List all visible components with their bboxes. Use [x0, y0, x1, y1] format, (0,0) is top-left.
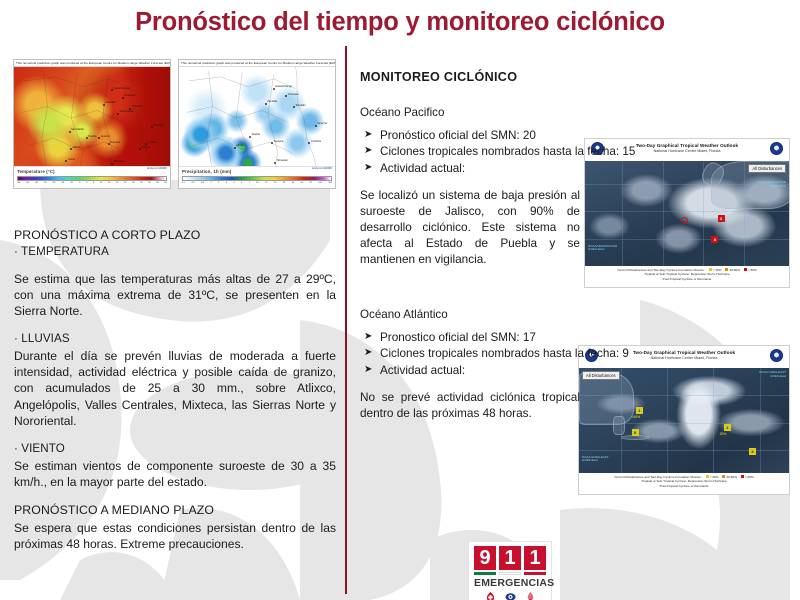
- arrow-bullet-icon: ➤: [364, 330, 380, 345]
- flag-bar-red: [524, 572, 546, 575]
- bullet-item: ➤Pronóstico oficial del SMN: 20: [364, 128, 790, 143]
- map-city-label: Teziutlán: [295, 105, 305, 108]
- bullet-item: ➤Actividad actual:: [364, 363, 790, 378]
- map-city-label: Tepeaca: [110, 142, 120, 145]
- legend-tick: 100: [318, 182, 322, 184]
- bullet-text: Pronóstico oficial del SMN: 20: [380, 128, 790, 143]
- hazard-marker: X: [749, 448, 756, 455]
- bullet-item: ➤Ciclones tropicales nombrados hasta la …: [364, 346, 790, 361]
- legend-tick: -10: [70, 182, 73, 184]
- digit-box: 1: [499, 546, 521, 570]
- legend-tick: -30: [35, 182, 38, 184]
- flag-bar-white: [499, 572, 521, 575]
- precipitation-color-bar: [182, 176, 332, 181]
- legend-tick: 15: [265, 182, 267, 184]
- legend-tick: 70: [309, 182, 311, 184]
- legend-tick: 30: [132, 182, 134, 184]
- bullet-item: ➤Pronostico oficial del SMN: 17: [364, 330, 790, 345]
- legend-tick: 20: [116, 182, 118, 184]
- map-city-label: Teziutlán: [132, 106, 142, 109]
- arrow-bullet-icon: ➤: [364, 128, 380, 143]
- legend-gt60: > 60%: [745, 475, 754, 479]
- legend-tick: -40: [17, 182, 20, 184]
- precipitation-legend-ticks: 0.10.30.512345710152030405070100150: [182, 182, 332, 184]
- precipitation-legend: Precipitation, 1h (mm) windy.com ECMWF 0…: [179, 166, 335, 188]
- map-city-label: Zacapoaxtla: [119, 111, 133, 114]
- legend-tick: 45: [156, 182, 158, 184]
- legend-tick: 1: [210, 182, 211, 184]
- pacific-bullet-list: ➤Pronóstico oficial del SMN: 20➤Ciclones…: [364, 128, 790, 176]
- bullet-item: ➤Ciclones tropicales nombrados hasta la …: [364, 144, 790, 159]
- legend-tick: 2: [218, 182, 219, 184]
- map-city-label: San Martín: [71, 129, 84, 132]
- legend-tick: 40: [148, 182, 150, 184]
- temperature-color-bar: [17, 176, 167, 181]
- legend-tick: 5: [93, 182, 94, 184]
- legend-tick: -25: [43, 182, 46, 184]
- legend-tick: 7: [249, 182, 250, 184]
- short-term-heading: PRONÓSTICO A CORTO PLAZO: [14, 228, 336, 244]
- legend-tick: 5: [241, 182, 242, 184]
- cuba-landmass: [621, 435, 650, 440]
- cyclone-section-title: MONITOREO CICLÓNICO: [360, 70, 790, 84]
- map-city-label: Izúcar: [68, 159, 75, 162]
- map-city-label: Zacatlán: [105, 102, 115, 105]
- arrow-bullet-icon: ➤: [364, 161, 380, 176]
- precipitation-legend-credit: windy.com ECMWF: [312, 168, 332, 171]
- rain-paragraph: Durante el día se prevén lluvias de mode…: [14, 348, 336, 429]
- map-city-label: Córdoba: [311, 141, 321, 144]
- legend-tick: -5: [79, 182, 81, 184]
- map-city-label: Puebla: [252, 134, 260, 137]
- legend-tick: 10: [100, 182, 102, 184]
- bullet-item: ➤Actividad actual:: [364, 161, 790, 176]
- bullet-text: Actividad actual:: [380, 363, 790, 378]
- legend-tick: 50: [301, 182, 303, 184]
- map-city-label: Veracruz: [154, 125, 164, 128]
- flag-bar-green: [474, 572, 496, 575]
- atlantic-ocean-label: Océano Atlántico: [360, 308, 790, 321]
- wind-paragraph: Se estiman vientos de componente suroest…: [14, 458, 336, 490]
- pacific-ocean-label: Océano Pacifico: [360, 106, 790, 119]
- emergency-911-logo: 911 EMERGENCIAS: [468, 541, 552, 600]
- legend-tick: 35: [140, 182, 142, 184]
- temperature-legend: Temperature (°C) windy.com ECMWF -40-35-…: [14, 166, 170, 188]
- bullet-text: Pronostico oficial del SMN: 17: [380, 330, 790, 345]
- digit-box: 1: [524, 546, 546, 570]
- nhc-legend-chance-label: Current Disturbances and Two-Day Cyclone…: [614, 475, 701, 479]
- legend-tick: 0.1: [182, 182, 185, 184]
- forecast-text-column: PRONÓSTICO A CORTO PLAZO · TEMPERATURA S…: [14, 228, 336, 552]
- arrow-bullet-icon: ➤: [364, 144, 380, 159]
- legend-tick: 150: [328, 182, 332, 184]
- column-divider: [345, 46, 347, 594]
- map-city-label: Puebla: [88, 136, 96, 139]
- map-city-label: Córdoba: [148, 142, 158, 145]
- temperature-map[interactable]: This numerical prediction graph was prod…: [13, 59, 171, 189]
- legend-tick: -15: [61, 182, 64, 184]
- legend-swatch-red: [741, 475, 744, 478]
- map-city-label: Tepeaca: [274, 141, 284, 144]
- map-city-label: Zacatlán: [267, 101, 277, 104]
- legend-tick: -20: [52, 182, 55, 184]
- nhc-legend-line-3: Post-Tropical Cyclone or Remnants: [579, 484, 789, 489]
- legend-tick: 40: [292, 182, 294, 184]
- hazard-marker: X: [632, 429, 639, 436]
- temperature-map-header: This numerical prediction graph was prod…: [14, 60, 170, 67]
- map-city-label: Huauchinango: [275, 86, 292, 89]
- digit-box: 9: [474, 546, 496, 570]
- map-city-label: Tehuacán: [277, 160, 288, 163]
- precipitation-map-header: This numerical prediction graph was prod…: [179, 60, 335, 67]
- legend-tick: 4: [233, 182, 234, 184]
- legend-tick: 30: [283, 182, 285, 184]
- map-city-label: Amozoc: [101, 136, 110, 139]
- fire-hydrant-icon: [525, 591, 536, 600]
- pacific-activity-paragraph: Se localizó un sistema de baja presión a…: [360, 188, 580, 268]
- police-shield-icon: [505, 591, 516, 600]
- legend-tick: 15: [108, 182, 110, 184]
- red-cross-icon: [485, 591, 496, 600]
- legend-lt40: < 40%: [710, 475, 719, 479]
- legend-tick: 20: [274, 182, 276, 184]
- nhc-atlantic-stamp: NOAA GOES-EAST GOES-East: [582, 456, 609, 464]
- legend-swatch-orange: [722, 475, 725, 478]
- map-city-label: Xicotepec: [288, 94, 299, 97]
- formation-chance-label: 20%: [720, 432, 727, 436]
- legend-tick: -35: [26, 182, 29, 184]
- legend-tick: 25: [124, 182, 126, 184]
- legend-mid: 40-60%: [726, 475, 737, 479]
- map-city-label: Orizaba: [141, 147, 150, 150]
- rain-label: · LLUVIAS: [14, 332, 336, 347]
- emergencias-label: EMERGENCIAS: [474, 577, 546, 589]
- bullet-text: Ciclones tropicales nombrados hasta la f…: [380, 144, 790, 159]
- cyclone-monitoring-column: MONITOREO CICLÓNICO Océano Pacifico ➤Pro…: [360, 70, 790, 422]
- map-city-label: Atlixco: [236, 145, 244, 148]
- map-city-label: Atlixco: [73, 147, 81, 150]
- legend-tick: 0: [86, 182, 87, 184]
- arrow-bullet-icon: ➤: [364, 363, 380, 378]
- weather-bulletin-page: Pronóstico del tiempo y monitoreo ciclón…: [0, 0, 800, 600]
- atlantic-bullet-list: ➤Pronostico oficial del SMN: 17➤Ciclones…: [364, 330, 790, 378]
- emergency-service-icons: [474, 591, 546, 600]
- nhc-atlantic-legend: Current Disturbances and Two-Day Cyclone…: [579, 473, 789, 494]
- bullet-text: Ciclones tropicales nombrados hasta la f…: [380, 346, 790, 361]
- arrow-bullet-icon: ➤: [364, 346, 380, 361]
- legend-swatch-yellow: [706, 475, 709, 478]
- wind-label: · VIENTO: [14, 442, 336, 457]
- map-city-label: Veracruz: [317, 123, 327, 126]
- legend-tick: 10: [256, 182, 258, 184]
- medium-term-paragraph: Se espera que estas condiciones persista…: [14, 520, 336, 552]
- map-city-label: Huauchinango: [113, 88, 130, 91]
- hazard-marker: 2: [724, 424, 731, 431]
- precipitation-map[interactable]: This numerical prediction graph was prod…: [178, 59, 336, 189]
- atlantic-activity-paragraph: No se prevé actividad ciclónica tropical…: [360, 390, 580, 422]
- mexican-flag-bars: [474, 572, 546, 575]
- map-city-label: Tehuacán: [113, 161, 124, 164]
- page-title: Pronóstico del tiempo y monitoreo ciclón…: [0, 8, 800, 37]
- temperature-legend-credit: windy.com ECMWF: [147, 168, 167, 171]
- bullet-text: Actividad actual:: [380, 161, 790, 176]
- legend-tick: 3: [226, 182, 227, 184]
- temperature-legend-ticks: -40-35-30-25-20-15-10-505101520253035404…: [17, 182, 167, 184]
- map-city-label: Xicotepec: [124, 95, 135, 98]
- medium-term-heading: PRONÓSTICO A MEDIANO PLAZO: [14, 503, 336, 519]
- legend-tick: 0.5: [201, 182, 204, 184]
- 911-digits: 911: [474, 546, 546, 570]
- legend-tick: 50: [164, 182, 166, 184]
- temperature-paragraph: Se estima que las temperaturas más altas…: [14, 271, 336, 320]
- temperature-label: · TEMPERATURA: [14, 245, 336, 260]
- legend-tick: 0.3: [191, 182, 194, 184]
